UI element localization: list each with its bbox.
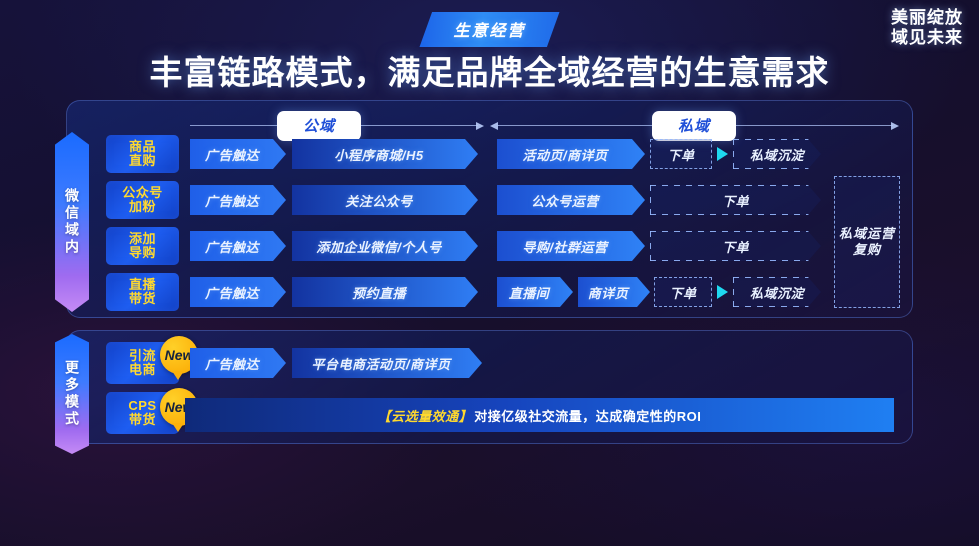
row-label-line1: CPS [128,399,156,413]
public-domain-axis-arrowhead [476,122,484,130]
step-guide-community-ops-row3[interactable]: 导购/社群运营 [497,231,645,261]
step-order-row1[interactable]: 下单 [650,139,712,169]
row-label-line2: 带货 [129,292,156,306]
step-order-row2[interactable]: 下单 [650,185,821,215]
row-label-add-guide: 添加 导购 [106,227,179,265]
cps-promo-banner[interactable]: 【云选量效通】 对接亿级社交流量，达成确定性的ROI [185,398,894,432]
row-label-product-direct: 商品 直购 [106,135,179,173]
row-label-line1: 商品 [129,140,156,154]
brand-slogan-line1: 美丽绽放 [891,8,963,28]
row-label-line2: 导购 [129,246,156,260]
row-label-line1: 添加 [129,232,156,246]
step-activity-detail-page-row1[interactable]: 活动页/商详页 [497,139,645,169]
private-domain-axis-arrowhead-right [891,122,899,130]
step-platform-ecommerce-page-more1[interactable]: 平台电商活动页/商详页 [292,348,482,378]
cps-banner-text: 对接亿级社交流量，达成确定性的ROI [474,406,701,425]
row-label-official-account-fans: 公众号 加粉 [106,181,179,219]
step-ad-reach-more1[interactable]: 广告触达 [190,348,286,378]
private-domain-pill: 私域 [652,111,736,141]
step-livestream-reservation-row4[interactable]: 预约直播 [292,277,478,307]
step-order-row4[interactable]: 下单 [654,277,712,307]
row-label-line1: 直播 [129,278,156,292]
step-private-settle-row1[interactable]: 私域沉淀 [733,139,821,169]
group-label-more-modes: 更多模式 [55,334,89,454]
section-badge-wrapper: 生意经营 [0,12,979,47]
step-ad-reach-row4[interactable]: 广告触达 [190,277,286,307]
step-private-settle-row4[interactable]: 私域沉淀 [733,277,821,307]
section-badge: 生意经营 [419,12,559,47]
private-domain-retention-box[interactable]: 私域运营复购 [834,176,900,308]
row-label-line2: 加粉 [129,200,156,214]
step-ad-reach-row2[interactable]: 广告触达 [190,185,286,215]
brand-slogan: 美丽绽放 域见未来 [891,8,963,48]
row-label-line1: 引流 [129,349,156,363]
step-add-enterprise-wechat-row3[interactable]: 添加企业微信/个人号 [292,231,478,261]
private-domain-axis-arrowhead-left [490,122,498,130]
step-ad-reach-row1[interactable]: 广告触达 [190,139,286,169]
step-live-room-row4[interactable]: 直播间 [497,277,573,307]
step-ad-reach-row3[interactable]: 广告触达 [190,231,286,261]
row-label-line1: 公众号 [122,186,163,200]
page-title: 丰富链路模式，满足品牌全域经营的生意需求 [0,46,979,94]
row-label-line2: 直购 [129,154,156,168]
cps-banner-tag: 【云选量效通】 [378,406,473,425]
row-label-line2: 带货 [129,413,156,427]
play-triangle-row4 [717,285,728,299]
step-product-detail-page-row4[interactable]: 商详页 [578,277,650,307]
public-domain-pill: 公域 [277,111,361,141]
step-official-account-ops-row2[interactable]: 公众号运营 [497,185,645,215]
row-label-line2: 电商 [129,363,156,377]
step-mini-program-mall-row1[interactable]: 小程序商城/H5 [292,139,478,169]
group-label-wechat: 微信域内 [55,132,89,312]
step-order-row3[interactable]: 下单 [650,231,821,261]
row-label-livestream-selling: 直播 带货 [106,273,179,311]
step-follow-official-account-row2[interactable]: 关注公众号 [292,185,478,215]
play-triangle-row1 [717,147,728,161]
